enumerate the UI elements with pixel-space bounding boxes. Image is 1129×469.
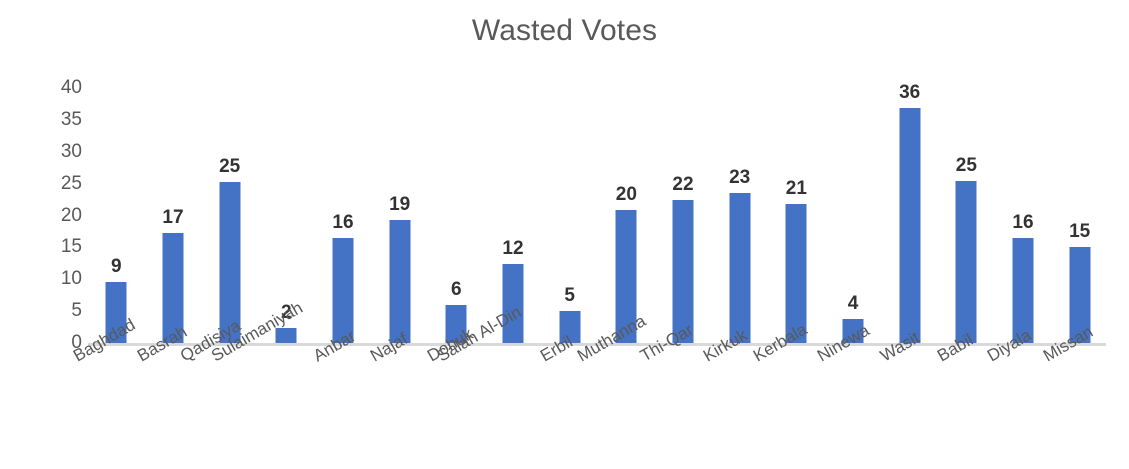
x-axis-category-labels: BaghdadBasrahQadisiyaSulaimaniyahAnbarNa… bbox=[88, 349, 1108, 469]
bar-group[interactable]: 16 bbox=[995, 80, 1052, 343]
bar-group[interactable]: 6 bbox=[428, 80, 485, 343]
bar-value-label: 25 bbox=[956, 155, 977, 177]
y-tick-label: 20 bbox=[48, 205, 82, 227]
bar-group[interactable]: 17 bbox=[145, 80, 202, 343]
bar-value-label: 5 bbox=[564, 285, 575, 307]
bar-value-label: 23 bbox=[729, 167, 750, 189]
y-tick-label: 15 bbox=[48, 236, 82, 258]
bar-group[interactable]: 21 bbox=[768, 80, 825, 343]
bar-value-label: 36 bbox=[899, 82, 920, 104]
bar-group[interactable]: 5 bbox=[541, 80, 598, 343]
chart-title: Wasted Votes bbox=[0, 14, 1129, 48]
bar[interactable] bbox=[729, 193, 750, 343]
y-tick-label: 35 bbox=[48, 109, 82, 131]
bar-value-label: 12 bbox=[502, 238, 523, 260]
bar-group[interactable]: 23 bbox=[711, 80, 768, 343]
bar-group[interactable]: 15 bbox=[1051, 80, 1108, 343]
bar-value-label: 15 bbox=[1069, 221, 1090, 243]
y-tick-label: 25 bbox=[48, 173, 82, 195]
y-tick-label: 30 bbox=[48, 141, 82, 163]
bar-group[interactable]: 22 bbox=[655, 80, 712, 343]
bar[interactable] bbox=[956, 181, 977, 343]
bar-group[interactable]: 36 bbox=[881, 80, 938, 343]
bar-value-label: 19 bbox=[389, 194, 410, 216]
y-axis-tick-labels: 4035302520151050 bbox=[38, 0, 82, 469]
bars-layer: 9172521619612520222321436251615 bbox=[88, 80, 1108, 343]
bar-group[interactable]: 16 bbox=[315, 80, 372, 343]
bar-value-label: 9 bbox=[111, 256, 122, 278]
bar-group[interactable]: 20 bbox=[598, 80, 655, 343]
bar-group[interactable]: 9 bbox=[88, 80, 145, 343]
bar-value-label: 25 bbox=[219, 156, 240, 178]
bar-group[interactable]: 25 bbox=[938, 80, 995, 343]
bar-value-label: 16 bbox=[332, 212, 353, 234]
bar-value-label: 17 bbox=[162, 207, 183, 229]
y-tick-label: 5 bbox=[48, 300, 82, 322]
bar-group[interactable]: 25 bbox=[201, 80, 258, 343]
bar-value-label: 21 bbox=[786, 178, 807, 200]
bar-value-label: 20 bbox=[616, 184, 637, 206]
bar-value-label: 6 bbox=[451, 279, 462, 301]
wasted-votes-bar-chart: Wasted Votes Percent 4035302520151050 91… bbox=[0, 0, 1129, 469]
bar[interactable] bbox=[899, 108, 920, 343]
bar-value-label: 4 bbox=[848, 293, 859, 315]
bar-value-label: 22 bbox=[672, 174, 693, 196]
bar-value-label: 16 bbox=[1012, 212, 1033, 234]
y-tick-label: 10 bbox=[48, 268, 82, 290]
y-tick-label: 40 bbox=[48, 77, 82, 99]
bar-group[interactable]: 19 bbox=[371, 80, 428, 343]
bar-group[interactable]: 4 bbox=[825, 80, 882, 343]
bar[interactable] bbox=[389, 220, 410, 343]
